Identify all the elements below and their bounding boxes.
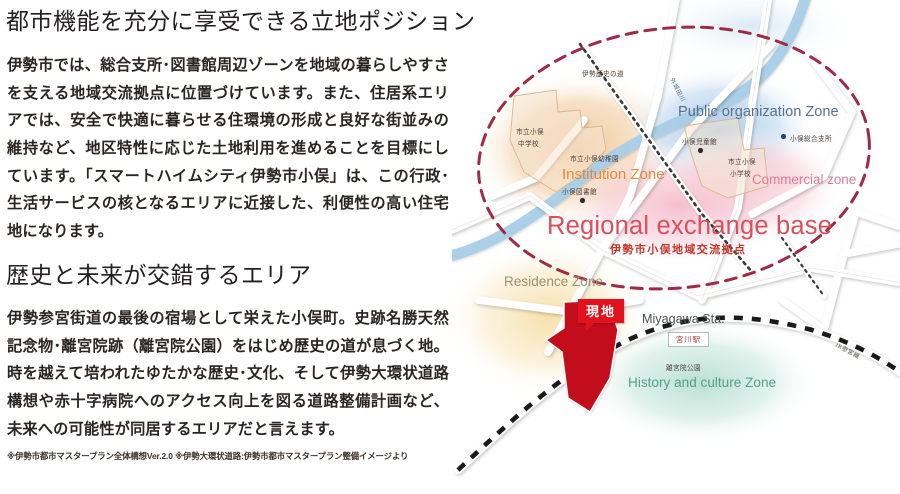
facility-label-branch-office: 小俣総合支所 (790, 133, 832, 143)
facility-label-library: 小俣図書館 (562, 186, 597, 196)
section-body-history: 伊勢参宮街道の最後の宿場として栄えた小俣町。史跡名勝天然記念物･離宮院跡（離宮院… (7, 305, 449, 443)
facility-label-kindergarten: 市立小俣幼稚園 (570, 153, 619, 163)
facility-label-elementary-line2: 小学校 (730, 168, 751, 178)
route-label-history-road: 伊勢歴史の道 (582, 68, 624, 78)
map-title-english: Regional exchange base (547, 212, 832, 241)
poi-dot-childrens-hall (698, 148, 703, 153)
station-label-japanese: 宮川駅 (668, 332, 709, 347)
article-text-column: 都市機能を充分に享受できる立地ポジション 伊勢市では、総合支所･図書館周辺ゾーン… (0, 0, 462, 494)
map-title-japanese: 伊勢市小俣地域交流拠点 (610, 241, 746, 257)
facility-label-elementary-line1: 市立小俣 (728, 156, 756, 166)
poi-dot-library (580, 198, 585, 203)
section-heading-location: 都市機能を充分に享受できる立地ポジション (6, 8, 476, 36)
section-heading-history: 歴史と未来が交錯するエリア (6, 262, 312, 290)
brochure-page: 都市機能を充分に享受できる立地ポジション 伊勢市では、総合支所･図書館周辺ゾーン… (0, 0, 900, 494)
site-location-badge: 現地 (578, 299, 624, 323)
facility-label-junior-high-line1: 市立小俣 (516, 126, 544, 136)
facility-label-childrens-hall: 小俣児童館 (682, 136, 717, 146)
footnote-text: ※伊勢市都市マスタープラン全体構想Ver.2.0 ※伊勢大環状道路:伊勢市都市マ… (7, 450, 457, 462)
section-body-location: 伊勢市では、総合支所･図書館周辺ゾーンを地域の暮らしやすさを支える地域交流拠点に… (7, 52, 449, 246)
facility-label-junior-high-line2: 中学校 (518, 138, 539, 148)
facility-label-rikyuin-park: 離宮院公園 (666, 362, 701, 372)
station-label-english: Miyagawa Sta. (642, 312, 725, 326)
zone-map: Public organization Zone Institution Zon… (452, 0, 900, 494)
poi-dot-branch-office (781, 134, 786, 139)
